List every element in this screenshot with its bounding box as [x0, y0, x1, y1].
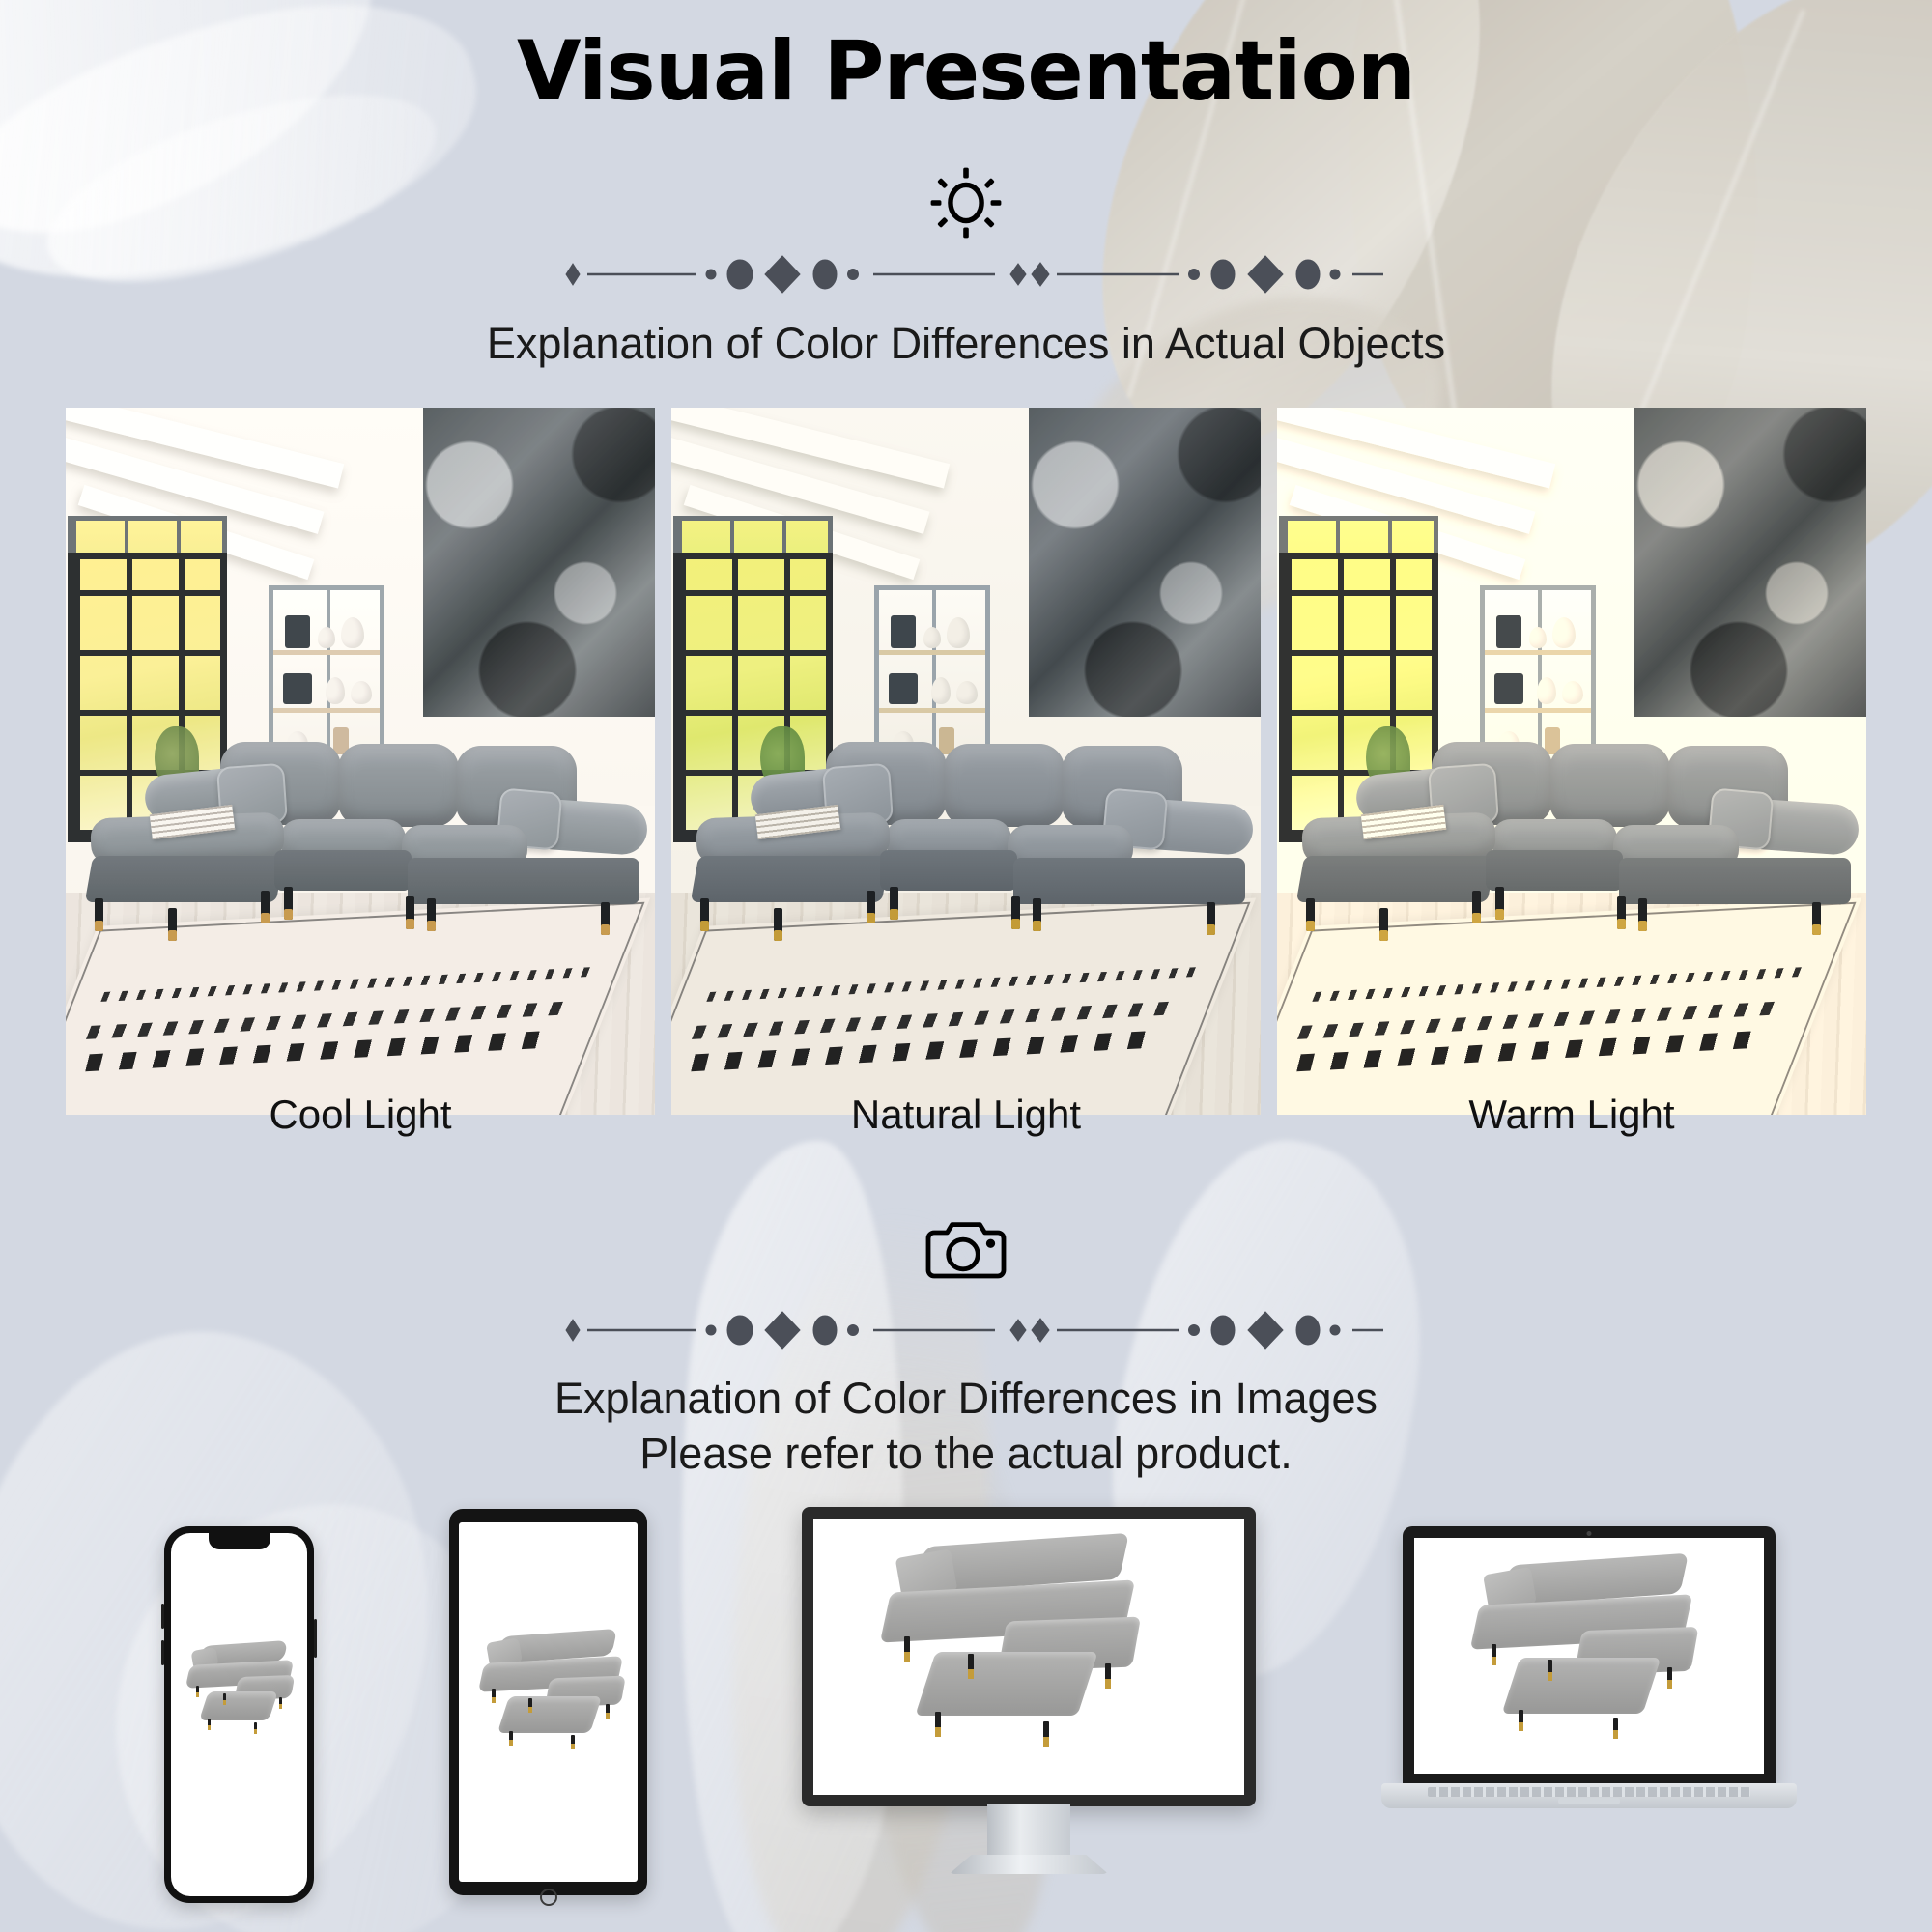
decor-vase	[351, 681, 372, 704]
sofa-leg	[284, 887, 293, 920]
scene-panel-group	[0, 408, 1932, 1122]
laptop-keyboard[interactable]	[1428, 1787, 1750, 1797]
stone-accent-wall	[423, 408, 655, 717]
sectional-sofa	[1287, 742, 1857, 945]
ornamental-divider-bottom	[0, 1309, 1932, 1351]
cabinet-mullion	[1538, 590, 1542, 764]
living-room-scene	[671, 408, 1261, 1115]
tablet-screen[interactable]	[459, 1522, 638, 1882]
phone-screen[interactable]	[171, 1533, 307, 1896]
decor-vase	[341, 617, 364, 648]
monitor-stand-foot	[950, 1855, 1109, 1874]
sofa-base	[274, 850, 412, 891]
cabinet-shelf	[879, 708, 985, 713]
sofa-leg	[890, 887, 898, 920]
product-image-sofa	[474, 1627, 638, 1762]
sofa-base	[880, 850, 1017, 891]
decor-vase	[1537, 677, 1556, 704]
scene-panel-natural[interactable]	[671, 408, 1261, 1115]
chaise-base	[1296, 856, 1495, 902]
stone-accent-wall	[1634, 408, 1866, 717]
sofa-leg	[601, 902, 610, 935]
sofa-leg	[1011, 896, 1020, 929]
sofa-leg	[1812, 902, 1821, 935]
laptop-trackpad[interactable]	[1558, 1798, 1620, 1804]
panel-label-natural: Natural Light	[671, 1092, 1261, 1138]
device-mockup-group	[0, 1507, 1932, 1932]
sectional-sofa	[681, 742, 1251, 945]
divider-ornament	[541, 253, 1391, 296]
laptop-webcam-icon	[1587, 1531, 1592, 1536]
section-heading-images: Explanation of Color Differences in Imag…	[0, 1372, 1932, 1481]
tablet-mockup[interactable]	[449, 1509, 647, 1895]
sofa-leg	[1617, 896, 1626, 929]
sofa-backrest	[1549, 744, 1670, 827]
sofa-leg	[774, 908, 782, 941]
cabinet-mullion	[327, 590, 330, 764]
decor-vase	[931, 677, 951, 704]
desktop-monitor-mockup[interactable]	[802, 1507, 1256, 1806]
stone-accent-wall	[1029, 408, 1261, 717]
decor-vase	[318, 627, 335, 648]
chaise-base	[691, 856, 890, 902]
cabinet-shelf	[1485, 708, 1591, 713]
sofa-leg	[406, 896, 414, 929]
panel-label-cool: Cool Light	[66, 1092, 655, 1138]
decor-object	[285, 615, 310, 648]
sun-icon-wrapper	[0, 162, 1932, 243]
decor-object	[1496, 615, 1521, 648]
cabinet-shelf	[879, 650, 985, 655]
sun-icon	[925, 162, 1007, 243]
divider-ornament	[541, 1309, 1391, 1351]
decor-vase	[1562, 681, 1583, 704]
sofa-base	[1486, 850, 1623, 891]
sofa-leg	[1495, 887, 1504, 920]
decor-vase	[947, 617, 970, 648]
monitor-screen[interactable]	[813, 1519, 1244, 1795]
product-image-sofa	[873, 1532, 1182, 1764]
sofa-leg	[1379, 908, 1388, 941]
chaise-base	[85, 856, 284, 902]
living-room-scene	[1277, 408, 1866, 1115]
cabinet-shelf	[273, 708, 380, 713]
decor-vase	[1552, 617, 1576, 648]
decor-vase	[923, 627, 941, 648]
sofa-leg	[95, 898, 103, 931]
sofa-leg	[1033, 898, 1041, 931]
laptop-screen[interactable]	[1414, 1538, 1764, 1774]
decor-vase	[326, 677, 345, 704]
living-room-scene	[66, 408, 655, 1115]
section-heading-objects: Explanation of Color Differences in Actu…	[0, 319, 1932, 369]
panel-label-group: Cool Light Natural Light Warm Light	[0, 1092, 1932, 1159]
section-heading-images-line2: Please refer to the actual product.	[0, 1427, 1932, 1482]
decor-vase	[956, 681, 978, 704]
decor-object	[891, 615, 916, 648]
monitor-stand-neck	[987, 1804, 1070, 1861]
decor-book	[1494, 673, 1523, 704]
section-heading-images-line1: Explanation of Color Differences in Imag…	[0, 1372, 1932, 1427]
sofa-base	[408, 858, 639, 904]
sofa-base	[1619, 858, 1851, 904]
laptop-lid	[1403, 1526, 1776, 1785]
phone-notch	[209, 1533, 270, 1549]
sofa-leg	[1306, 898, 1315, 931]
panel-label-warm: Warm Light	[1277, 1092, 1866, 1138]
cabinet-shelf	[273, 650, 380, 655]
sofa-backrest	[944, 744, 1065, 827]
camera-icon	[925, 1215, 1007, 1285]
tablet-home-button[interactable]	[540, 1889, 557, 1906]
phone-power-button[interactable]	[314, 1619, 317, 1658]
cabinet-mullion	[932, 590, 936, 764]
phone-volume-down-button[interactable]	[161, 1640, 164, 1665]
smartphone-mockup[interactable]	[164, 1526, 314, 1903]
product-image-sofa	[1464, 1551, 1735, 1754]
sofa-base	[1013, 858, 1245, 904]
page-title: Visual Presentation	[0, 23, 1932, 120]
sofa-leg	[168, 908, 177, 941]
sofa-leg	[427, 898, 436, 931]
sofa-leg	[867, 891, 875, 923]
decor-book	[283, 673, 312, 704]
decor-book	[889, 673, 918, 704]
sofa-leg	[1207, 902, 1215, 935]
sofa-leg	[1638, 898, 1647, 931]
sofa-leg	[261, 891, 270, 923]
cabinet-shelf	[1485, 650, 1591, 655]
sofa-leg	[1472, 891, 1481, 923]
product-image-sofa	[183, 1637, 307, 1744]
sofa-backrest	[338, 744, 459, 827]
sectional-sofa	[75, 742, 645, 945]
camera-icon-wrapper	[0, 1215, 1932, 1285]
scene-panel-warm[interactable]	[1277, 408, 1866, 1115]
laptop-mockup[interactable]	[1381, 1526, 1797, 1816]
ornamental-divider-top	[0, 253, 1932, 296]
phone-volume-up-button[interactable]	[161, 1604, 164, 1629]
sofa-leg	[700, 898, 709, 931]
scene-panel-cool[interactable]	[66, 408, 655, 1115]
decor-vase	[1529, 627, 1547, 648]
